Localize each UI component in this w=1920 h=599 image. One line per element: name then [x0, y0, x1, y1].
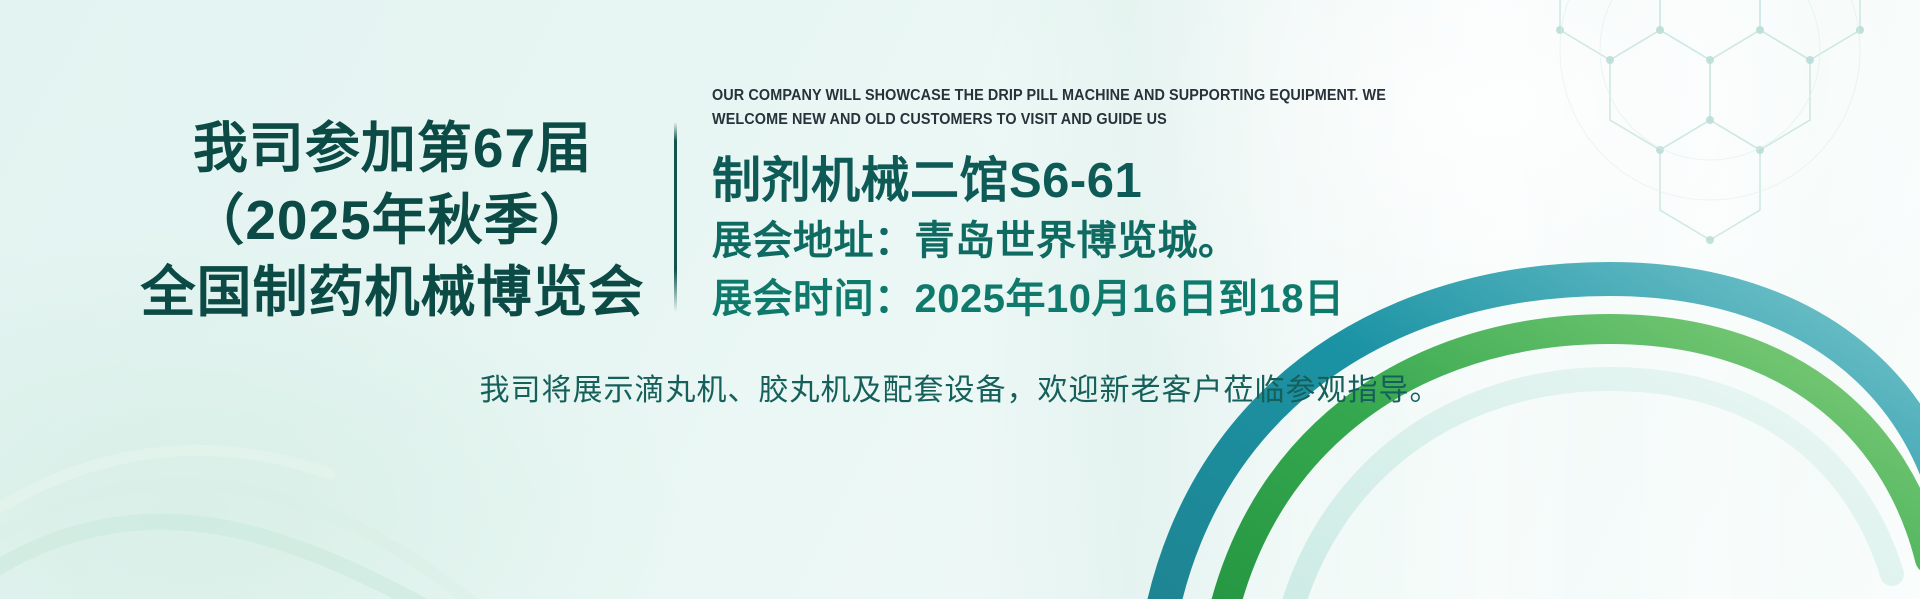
headline-line-2: （2025年秋季）	[110, 184, 675, 256]
banner-caption: 我司将展示滴丸机、胶丸机及配套设备，欢迎新老客户莅临参观指导。	[0, 365, 1920, 409]
banner-headline: 我司参加第67届 （2025年秋季） 全国制药机械博览会	[110, 112, 675, 328]
exhibition-address: 展会地址：青岛世界博览城。	[712, 212, 1892, 270]
headline-line-1: 我司参加第67届	[110, 112, 675, 184]
headline-line-3: 全国制药机械博览会	[110, 256, 675, 328]
exhibition-banner: 我司参加第67届 （2025年秋季） 全国制药机械博览会 OUR COMPANY…	[0, 0, 1920, 599]
banner-details: OUR COMPANY WILL SHOWCASE THE DRIP PILL …	[712, 84, 1892, 328]
booth-number: 制剂机械二馆S6-61	[712, 150, 1892, 212]
exhibition-date: 展会时间：2025年10月16日到18日	[712, 270, 1892, 328]
english-subtitle: OUR COMPANY WILL SHOWCASE THE DRIP PILL …	[712, 84, 1411, 132]
vertical-divider	[674, 122, 677, 312]
banner-content: 我司参加第67届 （2025年秋季） 全国制药机械博览会 OUR COMPANY…	[0, 0, 1920, 599]
